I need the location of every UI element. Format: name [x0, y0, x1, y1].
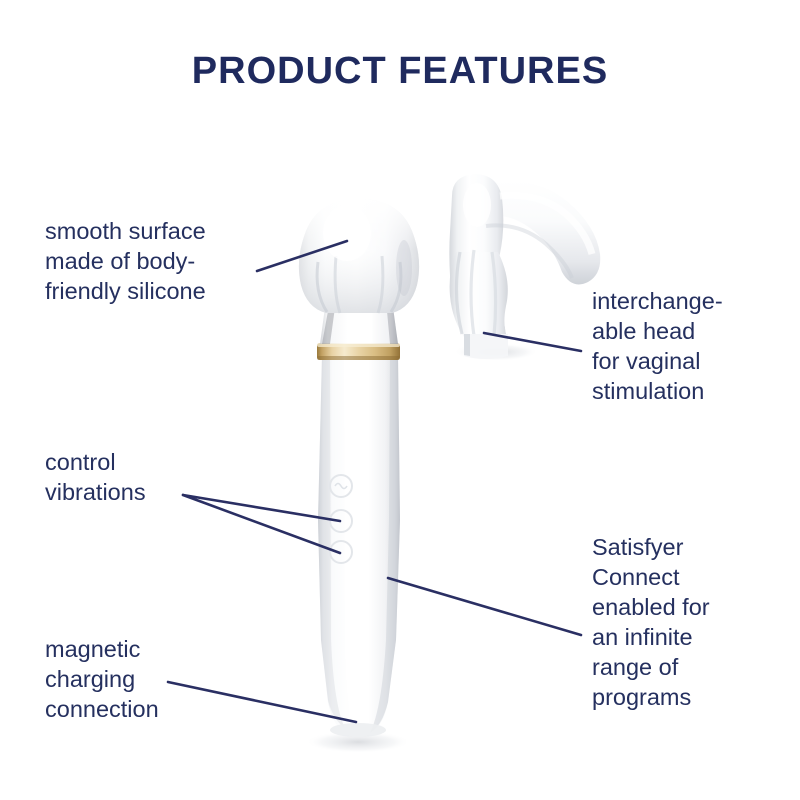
leader-line-satisfyer-connect — [388, 578, 581, 635]
page-title: PRODUCT FEATURES — [0, 50, 800, 93]
attachment-head — [449, 174, 600, 359]
callout-satisfyer-connect: Satisfyer Connect enabled for an infinit… — [592, 532, 797, 712]
handle-base — [330, 723, 386, 737]
attachment-collar-edge — [464, 334, 470, 356]
attachment-highlight — [463, 183, 491, 227]
callout-interchangeable-head: interchange- able head for vaginal stimu… — [592, 286, 797, 406]
wand-head-edge-shade — [396, 240, 412, 296]
callout-control-vibrations: control vibrations — [45, 447, 265, 507]
attachment-collar — [464, 334, 508, 359]
gold-ring-shade — [317, 356, 400, 360]
handle-highlight — [344, 360, 362, 720]
callout-smooth-surface: smooth surface made of body- friendly si… — [45, 216, 305, 306]
wand-head-highlight — [323, 205, 371, 261]
product-features-infographic: PRODUCT FEATURES — [0, 0, 800, 800]
wand-vibrator — [299, 199, 419, 737]
callout-magnetic-charging: magnetic charging connection — [45, 634, 265, 724]
